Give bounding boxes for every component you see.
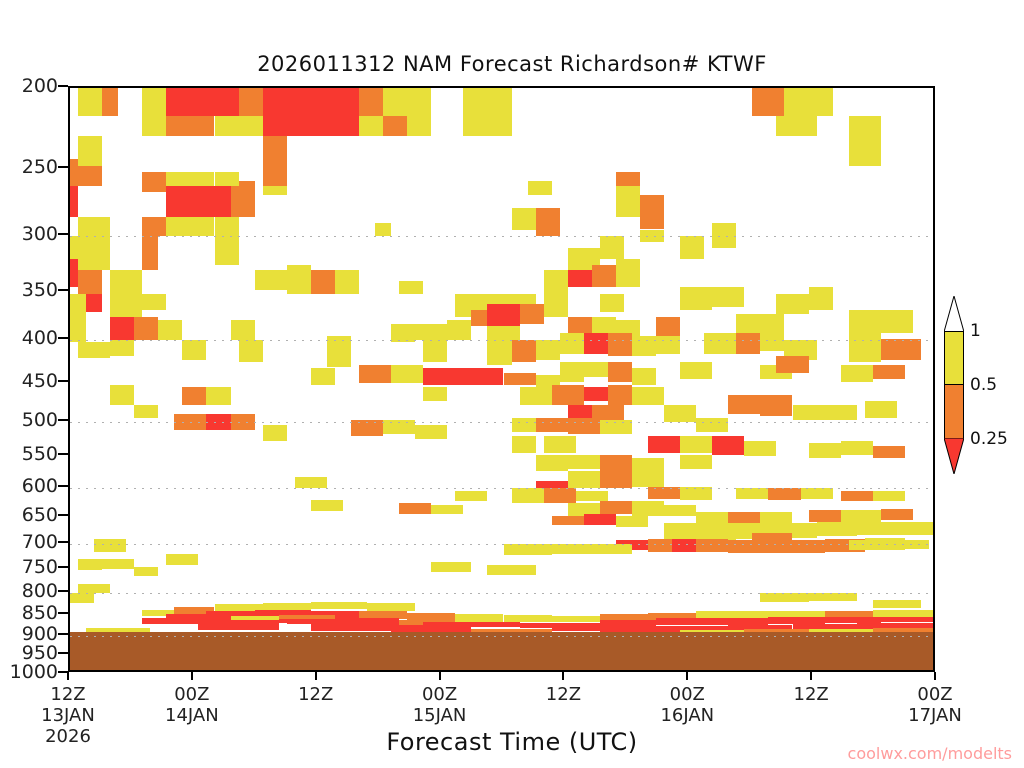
x-tick xyxy=(686,672,688,680)
colorbar-tick-label: 1 xyxy=(970,321,981,341)
x-tick-time: 00Z xyxy=(165,684,219,705)
x-tick xyxy=(934,672,936,680)
y-tick-label: 400 xyxy=(22,327,58,349)
x-tick-date: 14JAN xyxy=(165,705,219,726)
y-tick-label: 500 xyxy=(22,409,58,431)
x-tick xyxy=(315,672,317,680)
colorbar-body xyxy=(944,331,964,439)
y-tick-label: 200 xyxy=(22,75,58,97)
x-tick-label: 12Z xyxy=(546,684,581,705)
y-tick-label: 700 xyxy=(22,531,58,553)
gridlines-terrain xyxy=(70,88,933,670)
colorbar-tick-label: 0.5 xyxy=(970,375,997,395)
x-tick-label: 12Z xyxy=(794,684,829,705)
x-tick xyxy=(67,672,69,680)
x-tick xyxy=(191,672,193,680)
x-tick xyxy=(562,672,564,680)
x-tick xyxy=(439,672,441,680)
colorbar-arrow-down-icon xyxy=(944,438,964,474)
y-tick-label: 750 xyxy=(22,556,58,578)
y-tick-label: 650 xyxy=(22,504,58,526)
x-tick-time: 12Z xyxy=(546,684,581,705)
x-tick-date: 16JAN xyxy=(660,705,714,726)
y-tick-label: 600 xyxy=(22,475,58,497)
y-tick-label: 850 xyxy=(22,602,58,624)
x-tick-label: 00Z14JAN xyxy=(165,684,219,726)
colorbar-seg-yellow xyxy=(945,332,963,385)
y-tick-label: 900 xyxy=(22,623,58,645)
colorbar-tick-label: 0.25 xyxy=(970,429,1008,449)
x-tick-label: 00Z17JAN xyxy=(908,684,962,726)
colorbar-seg-orange xyxy=(945,385,963,438)
x-tick-time: 12Z xyxy=(41,684,95,705)
x-tick-time: 00Z xyxy=(660,684,714,705)
x-tick-label: 00Z16JAN xyxy=(660,684,714,726)
x-tick-date: 17JAN xyxy=(908,705,962,726)
x-tick xyxy=(810,672,812,680)
gridline xyxy=(70,636,933,637)
x-tick-time: 12Z xyxy=(298,684,333,705)
x-tick-label: 00Z15JAN xyxy=(413,684,467,726)
y-tick-label: 800 xyxy=(22,580,58,602)
x-tick-time: 12Z xyxy=(794,684,829,705)
y-tick-label: 300 xyxy=(22,223,58,245)
colorbar xyxy=(941,296,967,474)
x-tick-date: 13JAN xyxy=(41,705,95,726)
colorbar-arrow-up-icon xyxy=(944,296,964,332)
y-axis-labels: 2002503003504004505005506006507007508008… xyxy=(0,86,62,672)
x-tick-date: 15JAN xyxy=(413,705,467,726)
y-tick-label: 250 xyxy=(22,156,58,178)
y-tick-label: 550 xyxy=(22,443,58,465)
x-tick-time: 00Z xyxy=(908,684,962,705)
x-axis-ticks xyxy=(68,672,935,682)
colorbar-labels: 10.50.25 xyxy=(970,296,1024,476)
y-tick-label: 1000 xyxy=(10,661,58,683)
y-tick-label: 450 xyxy=(22,370,58,392)
chart-title: 2026011312 NAM Forecast Richardson# KTWF xyxy=(0,52,1024,76)
watermark-link[interactable]: coolwx.com/modelts xyxy=(848,744,1012,763)
y-tick-label: 350 xyxy=(22,279,58,301)
plot-area xyxy=(68,86,935,672)
x-tick-time: 00Z xyxy=(413,684,467,705)
x-tick-label: 12Z xyxy=(298,684,333,705)
